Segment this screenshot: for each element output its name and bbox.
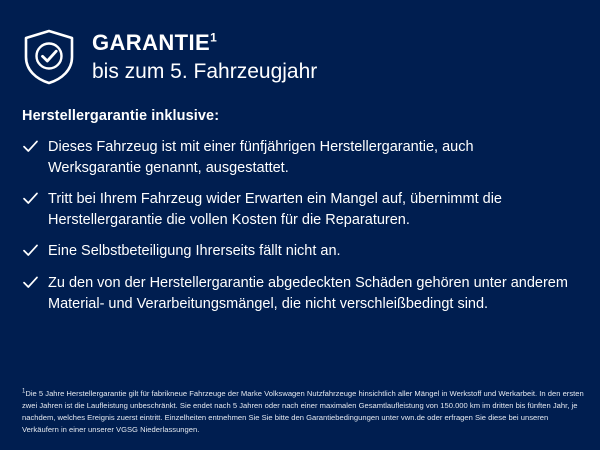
title-footnote-marker: 1 — [210, 30, 217, 44]
list-item: Zu den von der Herstellergarantie abgede… — [22, 273, 580, 314]
body-lead-heading: Herstellergarantie inklusive: — [22, 108, 580, 124]
list-item: Tritt bei Ihrem Fahrzeug wider Erwarten … — [22, 189, 580, 230]
shield-check-icon — [22, 28, 76, 86]
list-item-label: Tritt bei Ihrem Fahrzeug wider Erwarten … — [48, 189, 570, 230]
warranty-banner: GARANTIE1 bis zum 5. Fahrzeugjahr Herste… — [0, 0, 600, 450]
banner-header: GARANTIE1 bis zum 5. Fahrzeugjahr — [0, 0, 600, 86]
footnote: 1Die 5 Jahre Herstellergarantie gilt für… — [22, 388, 584, 436]
benefit-list: Dieses Fahrzeug ist mit einer fünfjährig… — [22, 137, 580, 314]
list-item: Dieses Fahrzeug ist mit einer fünfjährig… — [22, 137, 580, 178]
header-text-group: GARANTIE1 bis zum 5. Fahrzeugjahr — [92, 28, 317, 85]
list-item: Eine Selbstbeteiligung Ihrerseits fällt … — [22, 241, 580, 262]
list-item-label: Zu den von der Herstellergarantie abgede… — [48, 273, 570, 314]
title-label: GARANTIE — [92, 30, 210, 55]
page-title: GARANTIE1 — [92, 30, 317, 56]
list-item-label: Dieses Fahrzeug ist mit einer fünfjährig… — [48, 137, 570, 178]
footnote-text: Die 5 Jahre Herstellergarantie gilt für … — [22, 389, 584, 434]
check-icon — [22, 242, 42, 262]
check-icon — [22, 274, 42, 294]
banner-body: Herstellergarantie inklusive: Dieses Fah… — [0, 86, 600, 314]
list-item-label: Eine Selbstbeteiligung Ihrerseits fällt … — [48, 241, 341, 262]
page-subtitle: bis zum 5. Fahrzeugjahr — [92, 59, 317, 84]
check-icon — [22, 190, 42, 210]
check-icon — [22, 138, 42, 158]
